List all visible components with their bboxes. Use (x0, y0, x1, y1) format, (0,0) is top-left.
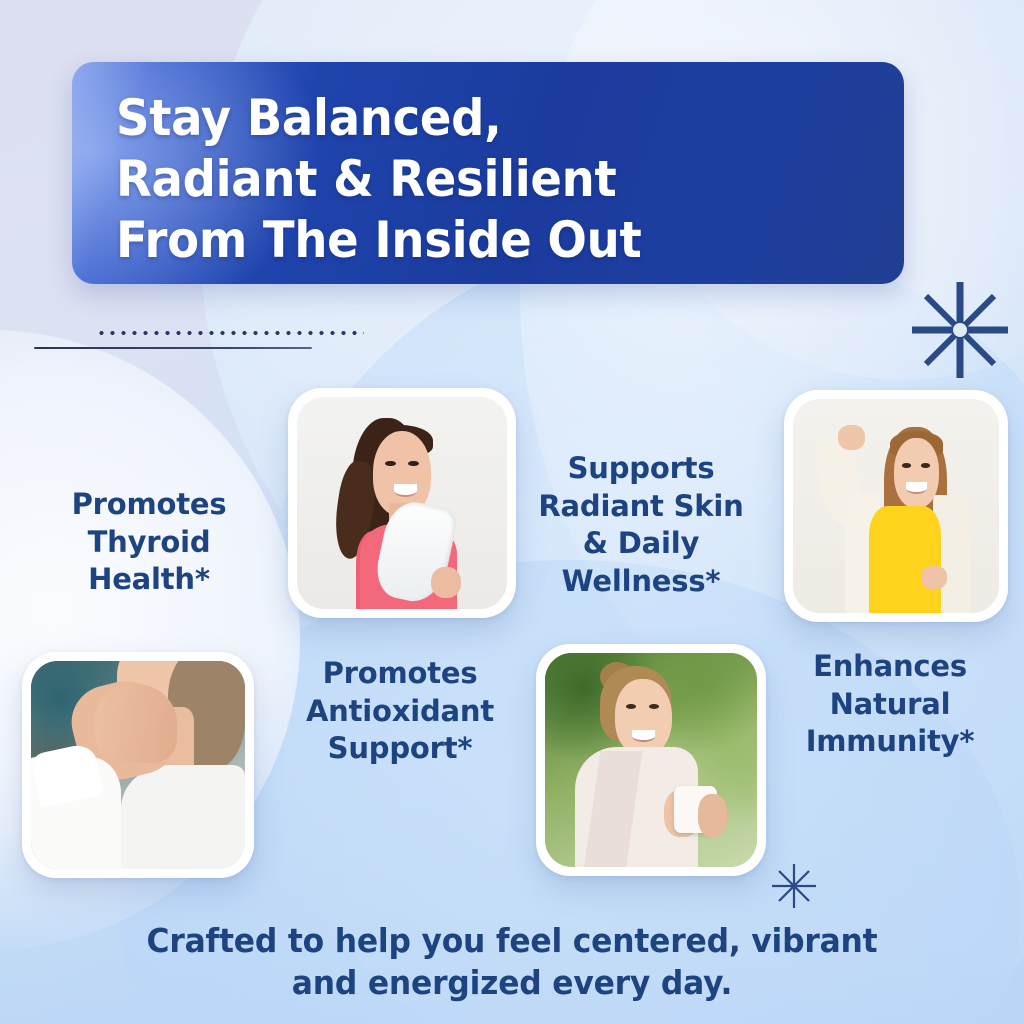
benefit-label-radiant-skin-line-1: Supports (516, 450, 766, 488)
benefit-label-immunity-line-1: Enhances (766, 648, 1014, 686)
headline-line-3: From The Inside Out (116, 210, 821, 271)
benefit-label-radiant-skin-line-2: Radiant Skin (516, 488, 766, 526)
sparkle-icon-large (908, 278, 1012, 382)
benefit-image-thyroid (31, 661, 245, 869)
benefit-label-immunity: Enhances Natural Immunity* (766, 648, 1014, 761)
benefit-image-card-immunity (784, 390, 1008, 622)
benefit-label-antioxidant: Promotes Antioxidant Support* (266, 655, 534, 768)
benefit-label-thyroid-line-1: Promotes (22, 486, 276, 524)
divider-rule (34, 347, 312, 349)
benefit-label-radiant-skin-line-4: Wellness* (516, 563, 766, 601)
dotted-divider-icon (96, 330, 364, 336)
headline-line-1: Stay Balanced, (116, 88, 821, 149)
benefit-label-radiant-skin: Supports Radiant Skin & Daily Wellness* (516, 450, 766, 601)
benefit-image-card-antioxidant (536, 644, 766, 876)
benefit-label-immunity-line-3: Immunity* (766, 723, 1014, 761)
infographic-canvas: Stay Balanced, Radiant & Resilient From … (0, 0, 1024, 1024)
footer-tagline-line-1: Crafted to help you feel centered, vibra… (26, 920, 999, 962)
benefit-image-antioxidant (545, 653, 757, 867)
benefit-label-thyroid: Promotes Thyroid Health* (22, 486, 276, 599)
benefit-label-thyroid-line-3: Health* (22, 561, 276, 599)
benefit-image-radiant-skin (297, 397, 507, 609)
benefit-label-radiant-skin-line-3: & Daily (516, 525, 766, 563)
headline-title: Stay Balanced, Radiant & Resilient From … (116, 88, 821, 271)
benefit-image-card-radiant-skin (288, 388, 516, 618)
benefit-image-immunity (793, 399, 999, 613)
benefit-label-antioxidant-line-1: Promotes (266, 655, 534, 693)
benefit-label-immunity-line-2: Natural (766, 686, 1014, 724)
headline-line-2: Radiant & Resilient (116, 149, 821, 210)
benefit-label-antioxidant-line-3: Support* (266, 730, 534, 768)
headline-banner: Stay Balanced, Radiant & Resilient From … (72, 62, 904, 284)
sparkle-icon-small (770, 862, 818, 910)
footer-tagline-line-2: and energized every day. (26, 962, 999, 1004)
benefit-image-card-thyroid (22, 652, 254, 878)
benefit-label-thyroid-line-2: Thyroid (22, 524, 276, 562)
divider (34, 330, 364, 349)
footer-tagline: Crafted to help you feel centered, vibra… (26, 920, 999, 1004)
benefit-label-antioxidant-line-2: Antioxidant (266, 693, 534, 731)
